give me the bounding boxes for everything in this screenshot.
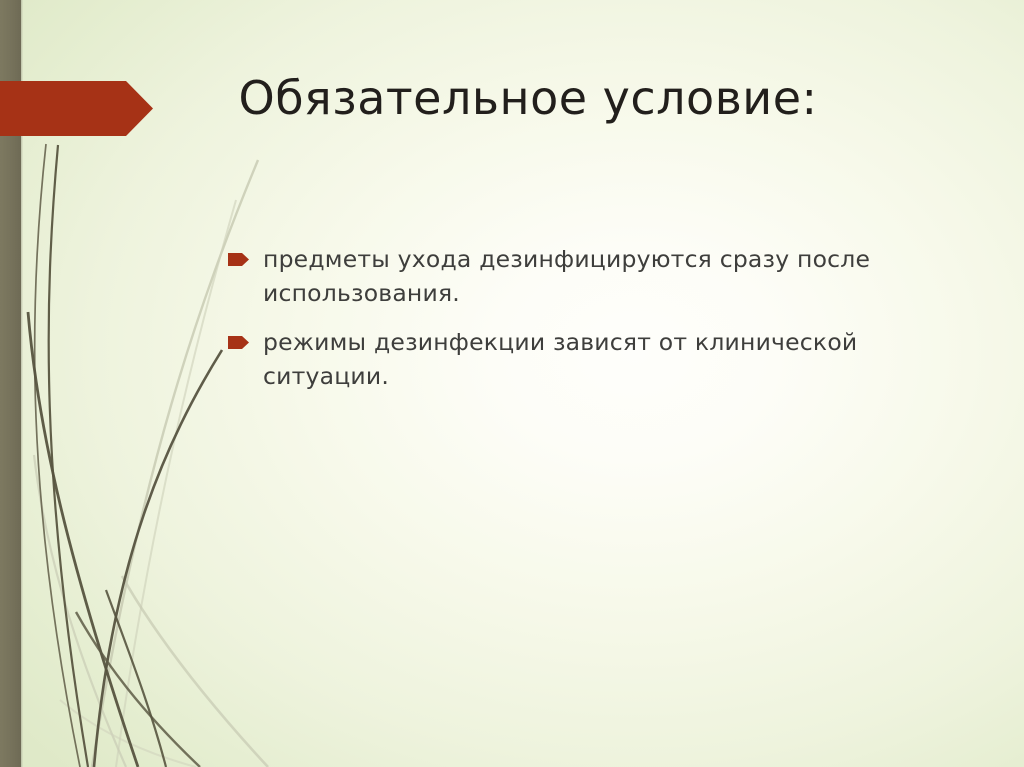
bullet-pentagon-shape [228,336,249,349]
grass-blade-dark-4 [94,350,222,767]
red-pentagon-bullet-icon [228,253,249,266]
presentation-slide: Обязательное условие: предметы ухода дез… [0,0,1024,767]
red-arrow-shape [0,81,153,136]
grass-blade-dark-3 [28,312,138,767]
list-item: предметы ухода дезинфицируются сразу пос… [228,243,900,310]
red-pentagon-bullet-icon [228,336,249,349]
grass-blade-light-2 [116,200,236,767]
grass-blade-dark-6 [106,590,166,767]
red-arrow-title-banner [0,81,153,136]
page-title: Обязательное условие: [168,70,888,128]
bullet-list: предметы ухода дезинфицируются сразу пос… [228,243,900,409]
grass-blade-dark-1 [49,145,88,767]
bullet-pentagon-shape [228,253,249,266]
grass-blade-dark-2 [35,144,80,767]
grass-blade-dark-5 [76,612,200,767]
list-item-label: предметы ухода дезинфицируются сразу пос… [263,243,900,310]
grass-blade-light-4 [60,700,196,767]
grass-blade-light-5 [122,576,268,767]
grass-blade-light-3 [34,455,126,767]
list-item: режимы дезинфекции зависят от клиническо… [228,326,900,393]
list-item-label: режимы дезинфекции зависят от клиническо… [263,326,900,393]
